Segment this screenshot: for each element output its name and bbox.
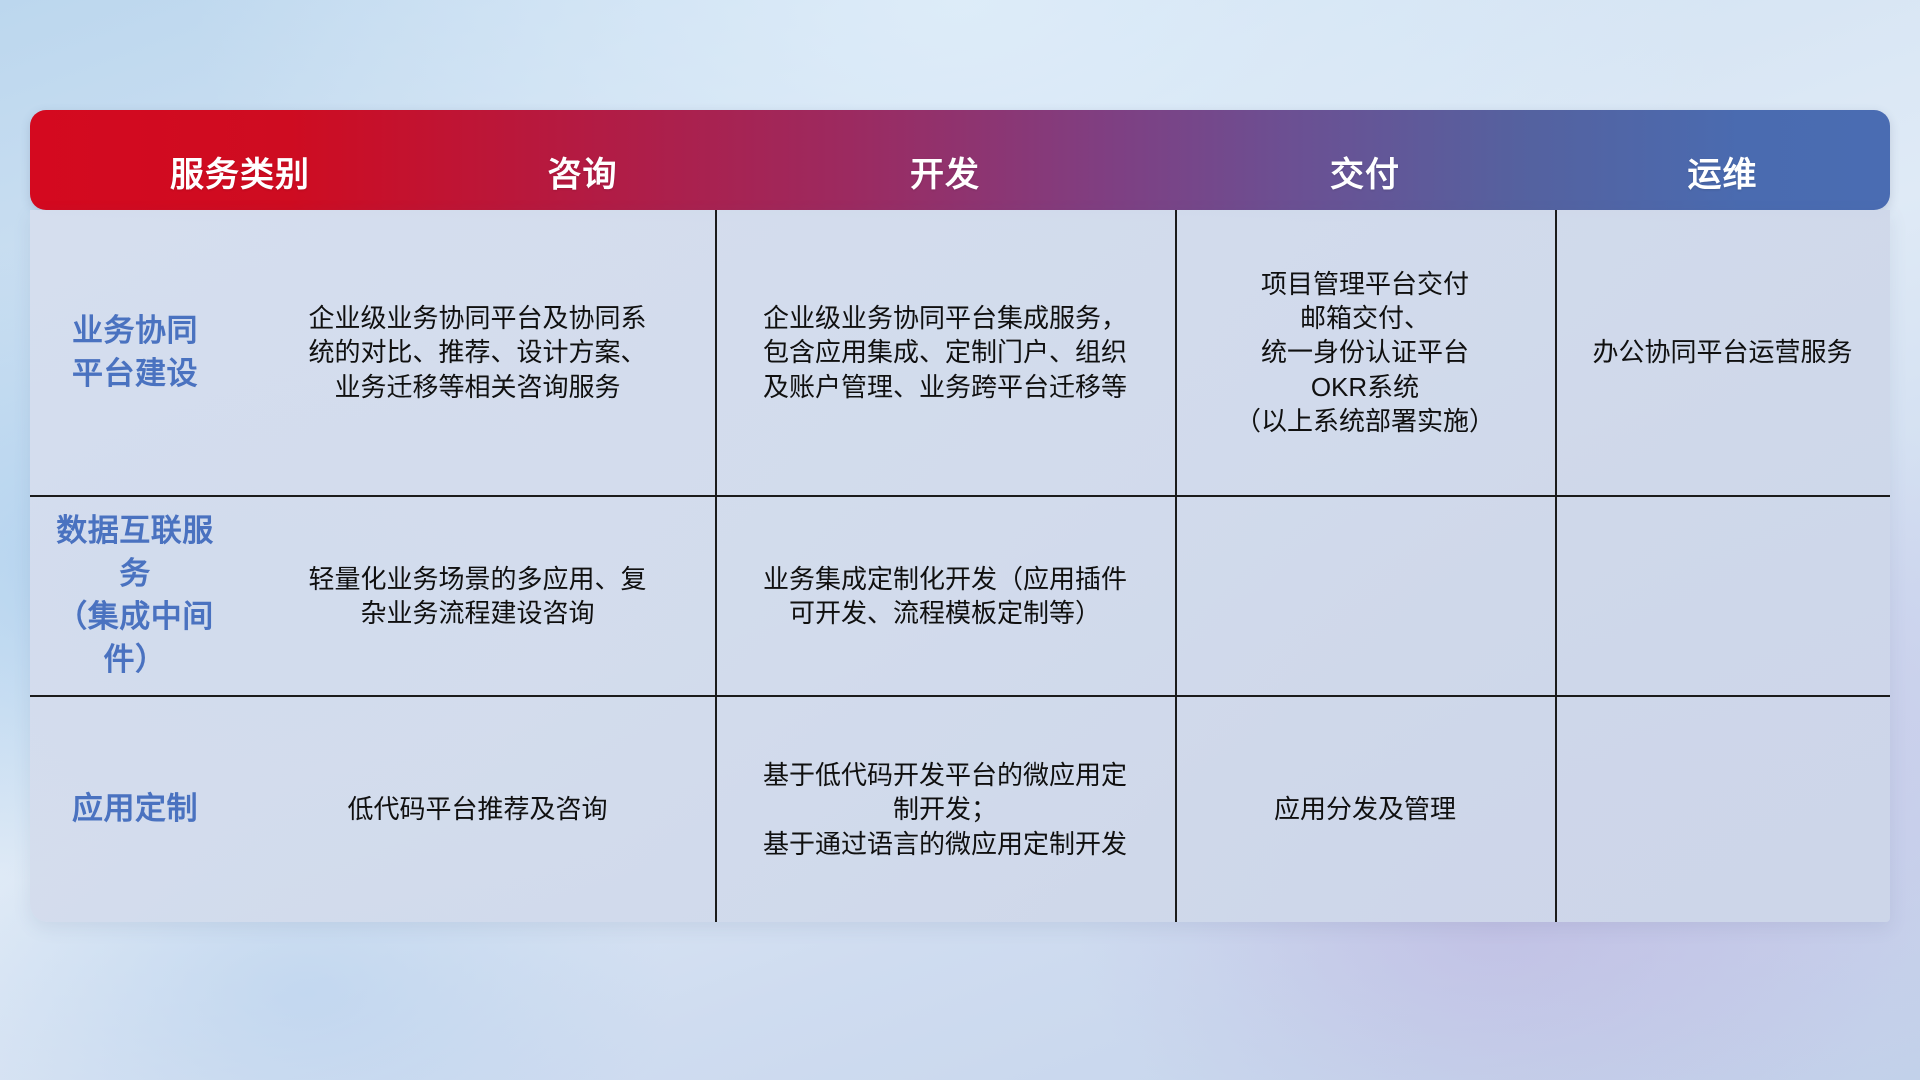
table-body: 业务协同 平台建设 企业级业务协同平台及协同系 统的对比、推荐、设计方案、 业务… [30, 210, 1890, 922]
column-header-consulting: 咨询 [450, 147, 715, 210]
cell-delivery-2 [1175, 497, 1555, 695]
cell-operations-2 [1555, 497, 1890, 695]
column-header-development: 开发 [715, 147, 1175, 210]
cell-consulting-1: 企业级业务协同平台及协同系 统的对比、推荐、设计方案、 业务迁移等相关咨询服务 [240, 210, 715, 495]
cell-consulting-2: 轻量化业务场景的多应用、复 杂业务流程建设咨询 [240, 497, 715, 695]
cell-category-2: 数据互联服务 （集成中间件） [30, 497, 240, 695]
cell-delivery-3: 应用分发及管理 [1175, 697, 1555, 922]
table-row: 业务协同 平台建设 企业级业务协同平台及协同系 统的对比、推荐、设计方案、 业务… [30, 210, 1890, 495]
cell-category-3: 应用定制 [30, 697, 240, 922]
column-header-delivery: 交付 [1175, 147, 1555, 210]
cell-delivery-1: 项目管理平台交付 邮箱交付、 统一身份认证平台 OKR系统 （以上系统部署实施） [1175, 210, 1555, 495]
cell-operations-3 [1555, 697, 1890, 922]
cell-category-1: 业务协同 平台建设 [30, 210, 240, 495]
table-row: 应用定制 低代码平台推荐及咨询 基于低代码开发平台的微应用定 制开发； 基于通过… [30, 695, 1890, 922]
cell-development-1: 企业级业务协同平台集成服务， 包含应用集成、定制门户、组织 及账户管理、业务跨平… [715, 210, 1175, 495]
table-header-row: 服务类别 咨询 开发 交付 运维 [30, 110, 1890, 210]
cell-development-2: 业务集成定制化开发（应用插件 可开发、流程模板定制等） [715, 497, 1175, 695]
column-header-category: 服务类别 [30, 147, 450, 210]
table-row: 数据互联服务 （集成中间件） 轻量化业务场景的多应用、复 杂业务流程建设咨询 业… [30, 495, 1890, 695]
cell-operations-1: 办公协同平台运营服务 [1555, 210, 1890, 495]
service-matrix-table: 服务类别 咨询 开发 交付 运维 业务协同 平台建设 企业级业务协同平台及协同系… [30, 110, 1890, 922]
cell-development-3: 基于低代码开发平台的微应用定 制开发； 基于通过语言的微应用定制开发 [715, 697, 1175, 922]
cell-consulting-3: 低代码平台推荐及咨询 [240, 697, 715, 922]
column-header-operations: 运维 [1555, 147, 1890, 210]
